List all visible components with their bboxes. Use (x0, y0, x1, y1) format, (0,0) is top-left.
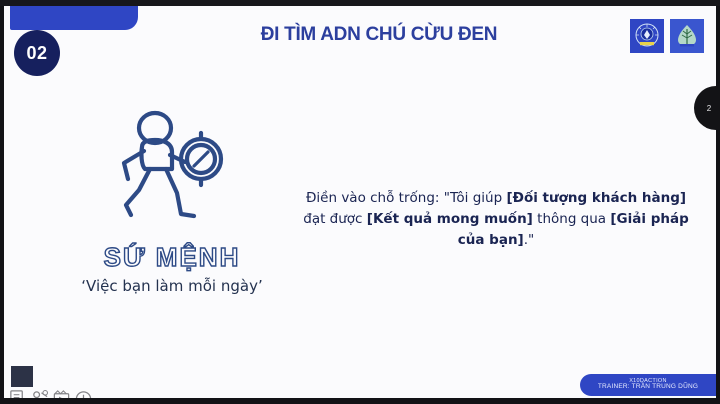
dark-color-swatch (11, 366, 33, 387)
trainer-banner: X10DACTION TRAINER: TRẦN TRUNG DŨNG (580, 374, 716, 396)
media-player-icon[interactable] (52, 389, 71, 398)
connector-one: đạt được (303, 211, 367, 227)
university-emblem-logo (630, 19, 664, 53)
mission-title: SỨ MỆNH (56, 242, 288, 273)
mission-panel: SỨ MỆNH ‘Việc bạn làm mỗi ngày’ (56, 106, 288, 295)
notes-document-icon[interactable] (8, 389, 27, 398)
fill-in-the-blank-prompt: Điền vào chỗ trống: "Tôi giúp [Đối tượng… (300, 188, 692, 251)
blank-result: [Kết quả mong muốn] (367, 211, 533, 227)
side-panel-tab-label: 2 (707, 104, 711, 113)
tool-icon-row[interactable] (8, 389, 93, 398)
clock-icon[interactable] (74, 389, 93, 398)
screen-root: 02 ĐI TÌM ADN CHÚ CỪU ĐEN (0, 0, 720, 404)
mission-subtitle: ‘Việc bạn làm mỗi ngày’ (56, 277, 288, 295)
trainer-name-label: TRAINER: TRẦN TRUNG DŨNG (598, 384, 698, 391)
presentation-slide: 02 ĐI TÌM ADN CHÚ CỪU ĐEN (4, 6, 716, 398)
presenter-person-icon[interactable] (30, 389, 49, 398)
header-accent-bar (10, 6, 138, 30)
tree-leaf-logo (670, 19, 704, 53)
section-number-badge: 02 (14, 30, 60, 76)
walking-person-with-compass-icon (56, 106, 288, 236)
blank-customer: [Đối tượng khách hàng] (506, 190, 686, 206)
connector-two: thông qua (533, 211, 611, 227)
prompt-tail: ." (524, 232, 535, 248)
logo-group (630, 19, 704, 53)
page-title: ĐI TÌM ADN CHÚ CỪU ĐEN (154, 24, 604, 46)
prompt-lead: Điền vào chỗ trống: "Tôi giúp (306, 190, 507, 206)
